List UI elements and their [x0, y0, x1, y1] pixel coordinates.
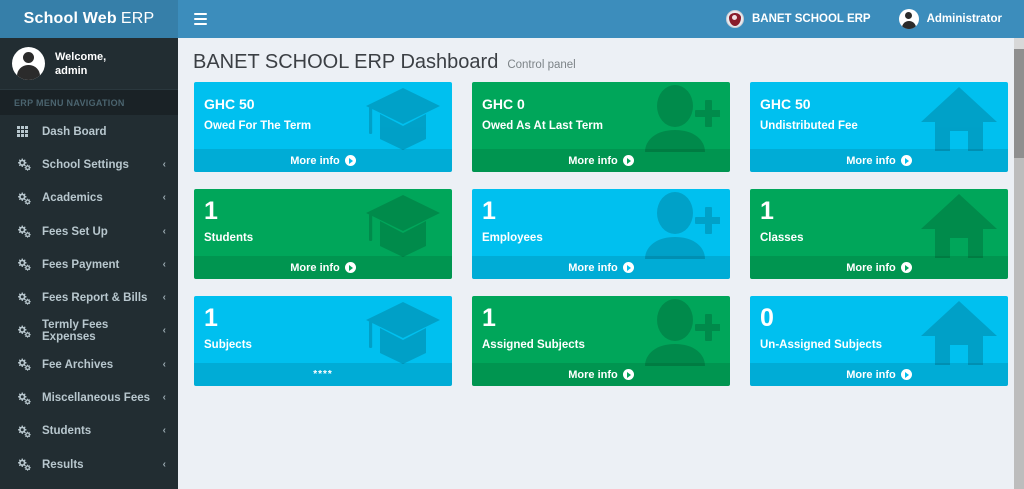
stat-card: 0Un-Assigned SubjectsMore info: [750, 296, 1008, 386]
chevron-left-icon: ‹: [163, 293, 166, 303]
hamburger-bar: [194, 18, 207, 20]
stat-card: 1ClassesMore info: [750, 189, 1008, 279]
arrow-circle-right-icon: [901, 155, 912, 166]
stat-card-label: Undistributed Fee: [760, 120, 998, 132]
dashboard-page: School Web ERP BANET SCHOOL ERP Adminis: [0, 0, 1024, 489]
stat-card-body: 0Un-Assigned Subjects: [750, 296, 1008, 363]
sidebar: Welcome, admin ERP MENU NAVIGATION Dash …: [0, 38, 178, 489]
stat-card-value: 1: [204, 197, 442, 225]
chevron-left-icon: ‹: [163, 160, 166, 170]
sidebar-item-label: Fees Set Up: [42, 226, 108, 238]
gears-icon: [17, 458, 33, 472]
page-subtitle: Control panel: [507, 59, 575, 71]
sidebar-menu: Dash BoardSchool Settings‹Academics‹Fees…: [0, 115, 178, 481]
arrow-circle-right-icon: [623, 155, 634, 166]
stat-card-label: Subjects: [204, 339, 442, 351]
user-menu[interactable]: Administrator: [885, 0, 1016, 38]
sidebar-item-fees-report-bills[interactable]: Fees Report & Bills‹: [0, 281, 178, 314]
stat-card-value: GHC 50: [760, 90, 998, 115]
stat-card-label: Students: [204, 232, 442, 244]
stat-card-value: 0: [760, 304, 998, 332]
hamburger-bar: [194, 13, 207, 15]
gears-icon: [17, 158, 33, 172]
sidebar-welcome-line1: Welcome,: [55, 50, 106, 64]
top-navbar: BANET SCHOOL ERP Administrator: [178, 0, 1024, 38]
arrow-circle-right-icon: [623, 262, 634, 273]
gears-icon: [17, 258, 33, 272]
app-logo-bold: School Web: [24, 10, 117, 28]
gears-icon: [17, 225, 33, 239]
more-info-label: More info: [568, 155, 618, 167]
arrow-circle-right-icon: [345, 262, 356, 273]
school-name-item[interactable]: BANET SCHOOL ERP: [712, 0, 885, 38]
sidebar-item-label: Academics: [42, 192, 103, 204]
stat-card: 1Subjects****: [194, 296, 452, 386]
sidebar-welcome-text: Welcome, admin: [55, 50, 106, 78]
more-info-label: More info: [846, 262, 896, 274]
stat-card-label: Assigned Subjects: [482, 339, 720, 351]
more-info-label: More info: [290, 155, 340, 167]
stat-card: GHC 50Owed For The TermMore info: [194, 82, 452, 172]
more-info-label: More info: [846, 369, 896, 381]
chevron-left-icon: ‹: [163, 260, 166, 270]
sidebar-welcome-line2: admin: [55, 64, 106, 78]
more-info-label: More info: [568, 369, 618, 381]
sidebar-item-label: Fees Payment: [42, 259, 119, 271]
stat-card-body: GHC 50Owed For The Term: [194, 82, 452, 149]
stat-card: GHC 50Undistributed FeeMore info: [750, 82, 1008, 172]
stat-card: GHC 0Owed As At Last TermMore info: [472, 82, 730, 172]
stat-card-body: 1Classes: [750, 189, 1008, 256]
crest-shield: [729, 13, 741, 26]
chevron-left-icon: ‹: [163, 393, 166, 403]
stat-cards-grid: GHC 50Owed For The TermMore infoGHC 0Owe…: [178, 82, 1024, 386]
school-name-label: BANET SCHOOL ERP: [752, 13, 871, 25]
stat-card-label: Owed For The Term: [204, 120, 442, 132]
gears-icon: [17, 191, 33, 205]
navbar-right: BANET SCHOOL ERP Administrator: [712, 0, 1016, 38]
stat-card-value: GHC 50: [204, 90, 442, 115]
stat-card-value: 1: [204, 304, 442, 332]
gears-icon: [17, 291, 33, 305]
content-area: BANET SCHOOL ERP Dashboard Control panel…: [178, 38, 1024, 489]
sidebar-item-label: Miscellaneous Fees: [42, 392, 150, 404]
vertical-scrollbar[interactable]: [1014, 38, 1024, 489]
sidebar-item-fees-set-up[interactable]: Fees Set Up‹: [0, 215, 178, 248]
stat-card-value: GHC 0: [482, 90, 720, 115]
sidebar-item-termly-fees-expenses[interactable]: Termly Fees Expenses‹: [0, 315, 178, 348]
more-info-label: More info: [568, 262, 618, 274]
gears-icon: [17, 424, 33, 438]
stat-card: 1StudentsMore info: [194, 189, 452, 279]
masked-footer-text: ****: [313, 369, 333, 380]
grid-icon: [17, 125, 33, 139]
arrow-circle-right-icon: [623, 369, 634, 380]
sidebar-item-label: Termly Fees Expenses: [42, 319, 163, 343]
sidebar-user-panel[interactable]: Welcome, admin: [0, 38, 178, 90]
scrollbar-thumb[interactable]: [1014, 38, 1024, 158]
stat-card-body: 1Employees: [472, 189, 730, 256]
arrow-circle-right-icon: [345, 155, 356, 166]
stat-card-value: 1: [482, 197, 720, 225]
sidebar-item-school-settings[interactable]: School Settings‹: [0, 148, 178, 181]
hamburger-bar: [194, 23, 207, 25]
sidebar-item-label: Dash Board: [42, 126, 107, 138]
sidebar-item-label: Students: [42, 425, 91, 437]
sidebar-item-students[interactable]: Students‹: [0, 415, 178, 448]
sidebar-item-label: School Settings: [42, 159, 129, 171]
sidebar-item-label: Results: [42, 459, 84, 471]
chevron-left-icon: ‹: [163, 227, 166, 237]
stat-card-value: 1: [760, 197, 998, 225]
main-header: School Web ERP BANET SCHOOL ERP Adminis: [0, 0, 1024, 38]
stat-card-label: Classes: [760, 232, 998, 244]
arrow-circle-right-icon: [901, 262, 912, 273]
content-header: BANET SCHOOL ERP Dashboard Control panel: [178, 38, 1024, 82]
chevron-left-icon: ‹: [163, 426, 166, 436]
chevron-left-icon: ‹: [163, 193, 166, 203]
sidebar-item-miscellaneous-fees[interactable]: Miscellaneous Fees‹: [0, 381, 178, 414]
sidebar-menu-header: ERP MENU NAVIGATION: [0, 90, 178, 115]
stat-card: 1Assigned SubjectsMore info: [472, 296, 730, 386]
stat-card-value: 1: [482, 304, 720, 332]
school-crest-icon: [726, 10, 744, 28]
stat-card-label: Un-Assigned Subjects: [760, 339, 998, 351]
sidebar-item-results[interactable]: Results‹: [0, 448, 178, 481]
sidebar-item-fees-payment[interactable]: Fees Payment‹: [0, 248, 178, 281]
stat-card-body: 1Subjects: [194, 296, 452, 363]
hamburger-icon[interactable]: [188, 7, 212, 31]
stat-card-label: Employees: [482, 232, 720, 244]
more-info-label: More info: [846, 155, 896, 167]
gears-icon: [17, 358, 33, 372]
app-logo[interactable]: School Web ERP: [0, 0, 178, 38]
chevron-left-icon: ‹: [163, 326, 166, 336]
app-logo-light: ERP: [121, 10, 155, 28]
page-title: BANET SCHOOL ERP Dashboard: [193, 51, 498, 74]
sidebar-item-dash-board[interactable]: Dash Board: [0, 115, 178, 148]
arrow-circle-right-icon: [901, 369, 912, 380]
more-info-label: More info: [290, 262, 340, 274]
chevron-left-icon: ‹: [163, 360, 166, 370]
chevron-left-icon: ‹: [163, 460, 166, 470]
stat-card: 1EmployeesMore info: [472, 189, 730, 279]
stat-card-body: 1Students: [194, 189, 452, 256]
stat-card-body: 1Assigned Subjects: [472, 296, 730, 363]
gears-icon: [17, 391, 33, 405]
user-name-label: Administrator: [927, 13, 1002, 25]
stat-card-body: GHC 50Undistributed Fee: [750, 82, 1008, 149]
sidebar-item-label: Fee Archives: [42, 359, 113, 371]
avatar: [12, 47, 45, 80]
sidebar-item-academics[interactable]: Academics‹: [0, 182, 178, 215]
user-avatar-icon: [899, 9, 919, 29]
gears-icon: [17, 324, 33, 338]
stat-card-label: Owed As At Last Term: [482, 120, 720, 132]
stat-card-body: GHC 0Owed As At Last Term: [472, 82, 730, 149]
scroll-up-arrow-icon[interactable]: [1014, 38, 1024, 49]
sidebar-item-fee-archives[interactable]: Fee Archives‹: [0, 348, 178, 381]
sidebar-item-label: Fees Report & Bills: [42, 292, 147, 304]
